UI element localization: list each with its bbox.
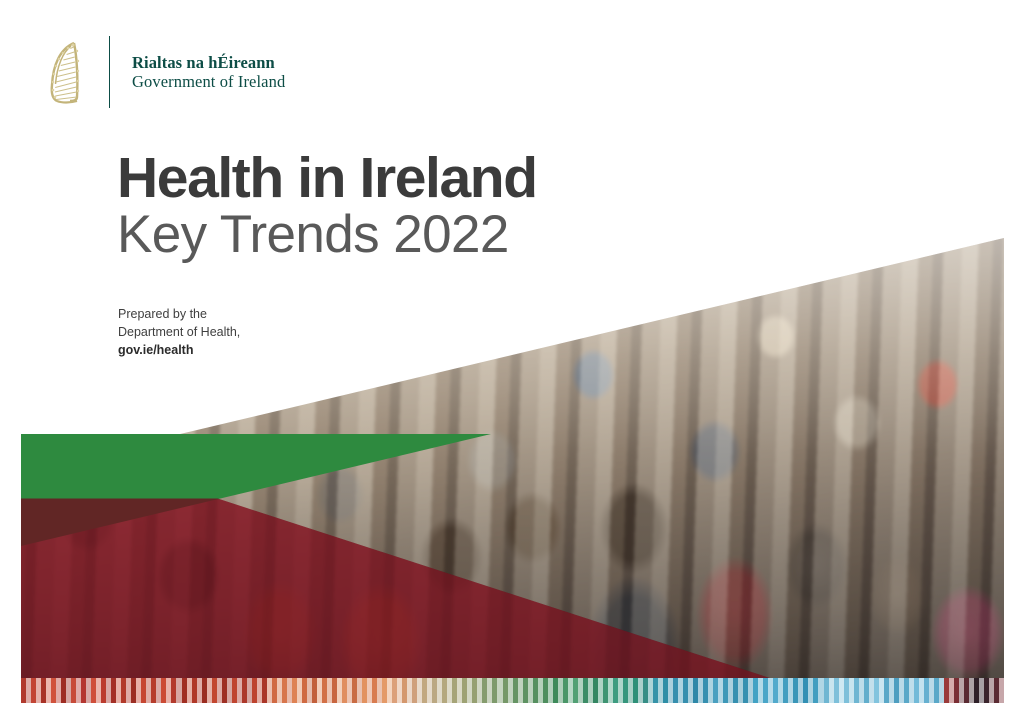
stripe-segment xyxy=(849,678,854,703)
stripe-segment xyxy=(327,678,332,703)
prepared-by-line-2: Department of Health, xyxy=(118,324,240,342)
stripe-segment xyxy=(357,678,362,703)
stripe-segment xyxy=(387,678,392,703)
stripe-segment xyxy=(297,678,302,703)
stripe-segment xyxy=(839,678,844,703)
stripe-segment xyxy=(808,678,813,703)
logo-text-english: Government of Ireland xyxy=(132,72,285,91)
stripe-segment xyxy=(437,678,442,703)
stripe-segment xyxy=(146,678,151,703)
stripe-segment xyxy=(859,678,864,703)
government-of-ireland-logo: Rialtas na hÉireann Government of Irelan… xyxy=(44,36,285,108)
stripe-segment xyxy=(518,678,523,703)
stripe-segment xyxy=(548,678,553,703)
stripe-segment xyxy=(367,678,372,703)
stripe-segment xyxy=(126,678,131,703)
stripe-segment xyxy=(76,678,81,703)
logo-text-group: Rialtas na hÉireann Government of Irelan… xyxy=(132,53,285,92)
stripe-segment xyxy=(307,678,312,703)
stripe-segment xyxy=(86,678,91,703)
stripe-segment xyxy=(217,678,222,703)
stripe-segment xyxy=(658,678,663,703)
stripe-segment xyxy=(879,678,884,703)
stripe-segment xyxy=(608,678,613,703)
decorative-barcode-stripe-bar xyxy=(21,678,1004,703)
stripe-segment xyxy=(207,678,212,703)
stripe-segment xyxy=(447,678,452,703)
stripe-segment xyxy=(106,678,111,703)
stripe-segment xyxy=(698,678,703,703)
stripe-segment xyxy=(116,678,121,703)
stripe-segment xyxy=(397,678,402,703)
stripe-segment xyxy=(648,678,653,703)
stripe-segment xyxy=(528,678,533,703)
stripe-segment xyxy=(778,678,783,703)
stripe-segment xyxy=(247,678,252,703)
stripe-segment xyxy=(477,678,482,703)
stripe-segment xyxy=(768,678,773,703)
stripe-segment xyxy=(277,678,282,703)
stripe-segment xyxy=(156,678,161,703)
stripe-segment xyxy=(638,678,643,703)
stripe-segment xyxy=(497,678,502,703)
logo-divider xyxy=(109,36,110,108)
stripe-segment xyxy=(718,678,723,703)
stripe-segment xyxy=(568,678,573,703)
stripe-segment xyxy=(317,678,322,703)
page-subtitle: Key Trends 2022 xyxy=(117,208,509,261)
stripe-segment xyxy=(818,678,823,703)
stripe-segment xyxy=(176,678,181,703)
stripe-segment xyxy=(26,678,31,703)
stripe-segment xyxy=(979,678,984,703)
stripe-segment xyxy=(869,678,874,703)
prepared-by-line-1: Prepared by the xyxy=(118,306,240,324)
prepared-by-block: Prepared by the Department of Health, go… xyxy=(118,306,240,359)
stripe-segment xyxy=(889,678,894,703)
stripe-segment xyxy=(508,678,513,703)
cover-page: Rialtas na hÉireann Government of Irelan… xyxy=(0,0,1024,724)
stripe-segment xyxy=(417,678,422,703)
stripe-segment xyxy=(136,678,141,703)
stripe-segment xyxy=(798,678,803,703)
stripe-segment xyxy=(558,678,563,703)
stripe-segment xyxy=(287,678,292,703)
stripe-segment xyxy=(758,678,763,703)
stripe-segment xyxy=(829,678,834,703)
stripe-segment xyxy=(46,678,51,703)
stripe-segment xyxy=(227,678,232,703)
stripe-segment xyxy=(688,678,693,703)
stripe-segment xyxy=(678,678,683,703)
stripe-segment xyxy=(738,678,743,703)
stripe-segment xyxy=(909,678,914,703)
stripe-segment xyxy=(989,678,994,703)
irish-harp-emblem-icon xyxy=(44,39,88,105)
stripe-segment xyxy=(578,678,583,703)
stripe-segment xyxy=(708,678,713,703)
stripe-segment xyxy=(899,678,904,703)
stripe-segment xyxy=(407,678,412,703)
stripe-segment xyxy=(467,678,472,703)
stripe-segment xyxy=(969,678,974,703)
stripe-segment xyxy=(919,678,924,703)
stripe-segment xyxy=(487,678,492,703)
stripe-segment xyxy=(598,678,603,703)
stripe-segment xyxy=(96,678,101,703)
stripe-segment xyxy=(66,678,71,703)
stripe-segment xyxy=(748,678,753,703)
page-title: Health in Ireland xyxy=(117,150,537,207)
stripe-segment xyxy=(628,678,633,703)
stripe-segment xyxy=(457,678,462,703)
stripe-segment xyxy=(166,678,171,703)
stripe-segment xyxy=(788,678,793,703)
stripe-segment xyxy=(929,678,934,703)
stripe-segment xyxy=(949,678,954,703)
stripe-segment xyxy=(427,678,432,703)
stripe-segment xyxy=(588,678,593,703)
stripe-segment xyxy=(999,678,1004,703)
stripe-segment xyxy=(939,678,944,703)
stripe-segment xyxy=(197,678,202,703)
stripe-segment xyxy=(959,678,964,703)
stripe-segment xyxy=(347,678,352,703)
stripe-segment xyxy=(36,678,41,703)
stripe-segment xyxy=(337,678,342,703)
stripe-segment xyxy=(257,678,262,703)
stripe-segment xyxy=(377,678,382,703)
stripe-segment xyxy=(56,678,61,703)
stripe-segment xyxy=(668,678,673,703)
department-website-link[interactable]: gov.ie/health xyxy=(118,342,240,360)
stripe-segment xyxy=(728,678,733,703)
stripe-segment xyxy=(267,678,272,703)
stripe-segment xyxy=(618,678,623,703)
stripe-segment xyxy=(187,678,192,703)
stripe-segment xyxy=(237,678,242,703)
stripe-segment xyxy=(538,678,543,703)
logo-text-irish: Rialtas na hÉireann xyxy=(132,53,285,72)
